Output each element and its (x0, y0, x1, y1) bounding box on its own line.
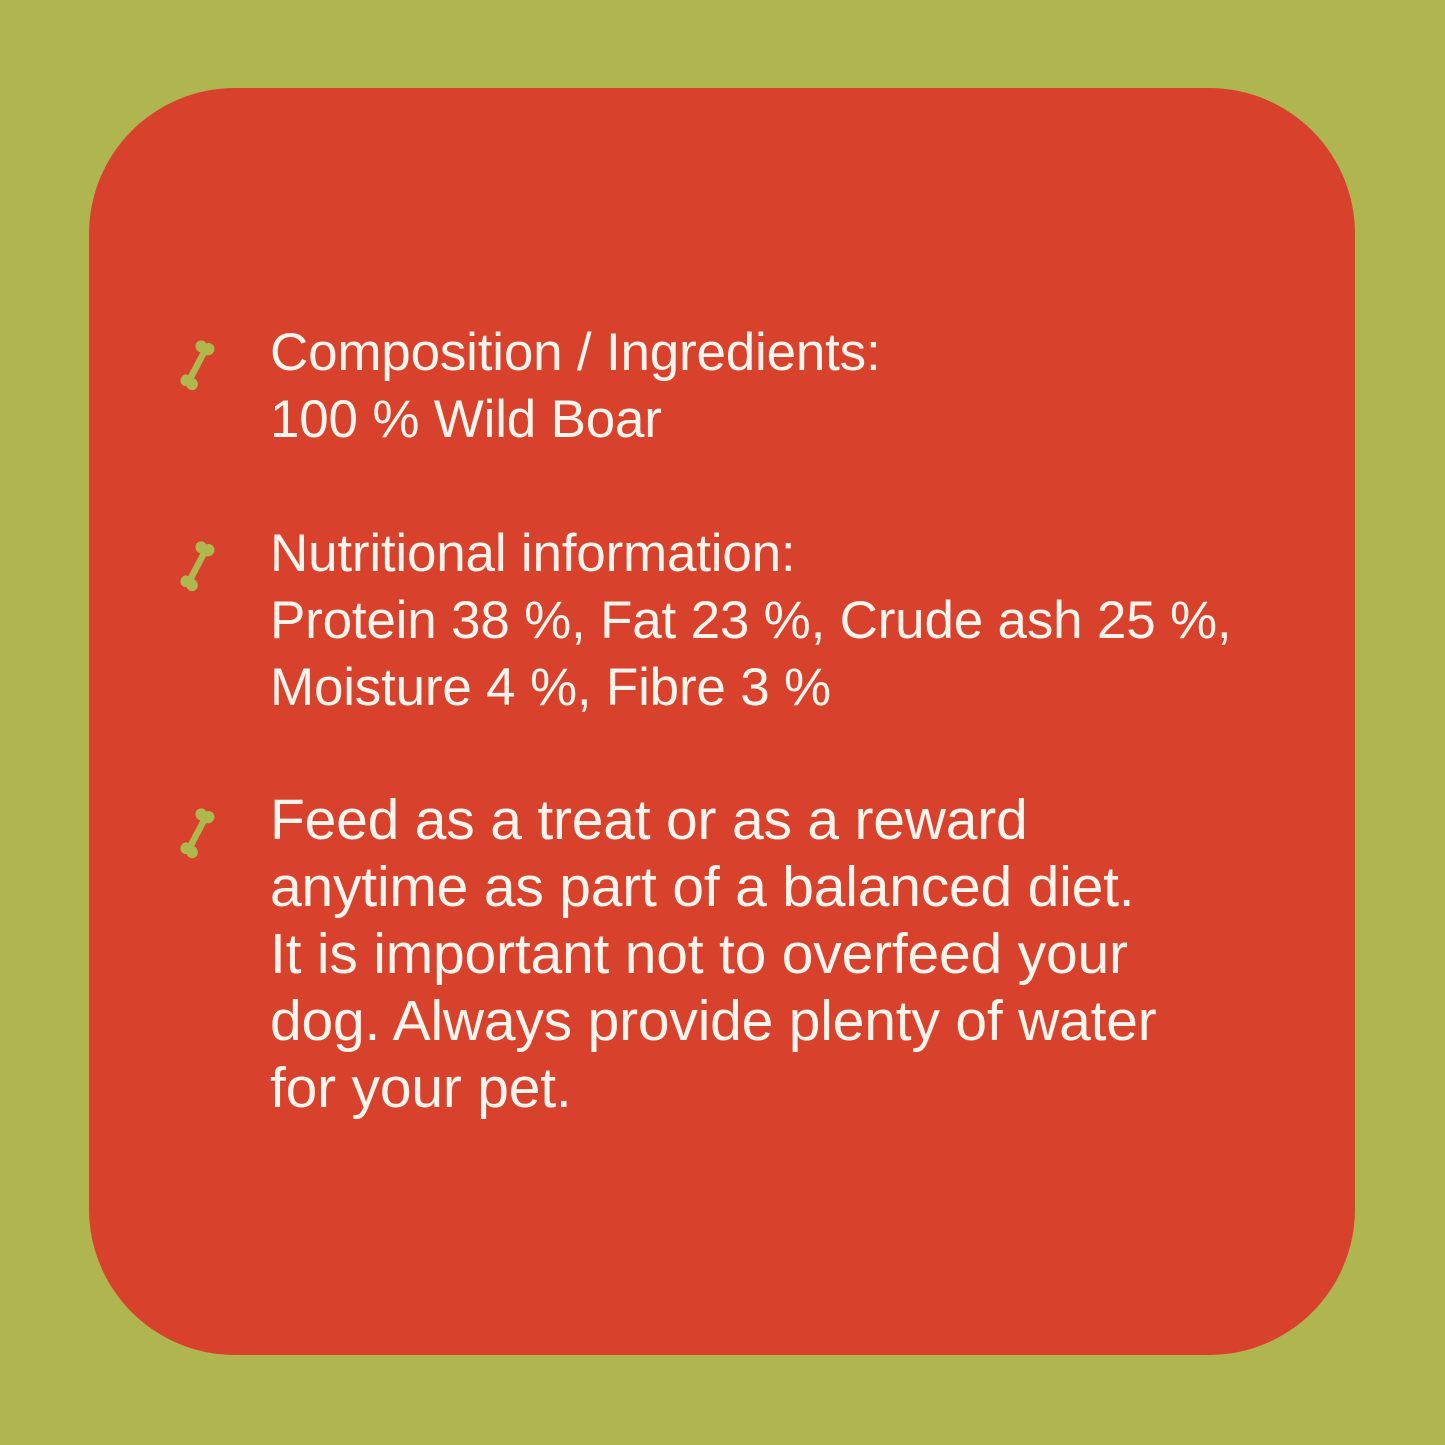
list-item-text: Composition / Ingredients: 100 % Wild Bo… (270, 319, 881, 453)
list-item: Nutritional information: Protein 38 %, F… (170, 520, 1231, 721)
bone-icon (170, 801, 232, 863)
list-item-text: Feed as a treat or as a reward anytime a… (270, 787, 1157, 1122)
bone-icon (170, 333, 232, 395)
list-item-text: Nutritional information: Protein 38 %, F… (270, 520, 1231, 721)
list-item: Composition / Ingredients: 100 % Wild Bo… (170, 319, 881, 453)
product-info-card: Composition / Ingredients: 100 % Wild Bo… (89, 88, 1355, 1355)
product-info-bullet-list: Composition / Ingredients: 100 % Wild Bo… (89, 88, 1355, 1355)
page-canvas: Composition / Ingredients: 100 % Wild Bo… (0, 0, 1445, 1445)
list-item: Feed as a treat or as a reward anytime a… (170, 787, 1157, 1122)
bone-icon (170, 534, 232, 596)
